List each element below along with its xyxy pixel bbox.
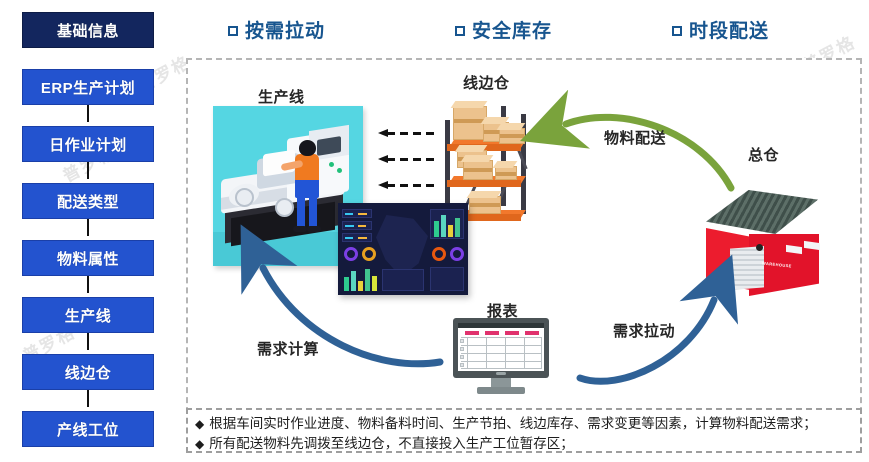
table-gridline — [461, 337, 541, 338]
note-box: ◆根据车间实时作业进度、物料备料时间、生产节拍、线边库存、需求变更等因素，计算物… — [186, 408, 862, 453]
flow-connector — [87, 332, 89, 350]
sidebar-item-daily-plan[interactable]: 日作业计划 — [22, 126, 154, 162]
label-demand-pull: 需求拉动 — [613, 320, 675, 341]
dashboard-tick — [358, 225, 366, 227]
sidebar-item-line-side-warehouse[interactable]: 线边仓 — [22, 354, 154, 390]
rack-shelf-edge — [447, 180, 521, 187]
dashed-arrow-left — [378, 129, 442, 137]
label-main-warehouse: 总仓 — [748, 144, 779, 165]
dashboard-bar — [344, 277, 349, 291]
header-label: 按需拉动 — [245, 21, 325, 42]
table-gridline — [524, 337, 525, 369]
carton-tape — [496, 172, 516, 176]
carton-box — [499, 128, 525, 144]
dashboard-tick — [345, 237, 353, 239]
carton-top — [467, 191, 502, 198]
row-marker — [460, 355, 464, 359]
sidebar-item-delivery-type[interactable]: 配送类型 — [22, 183, 154, 219]
dashboard-bar — [434, 221, 439, 237]
row-marker — [460, 339, 464, 343]
arrow-shaft — [387, 132, 439, 135]
table-header-cell — [505, 331, 519, 335]
monitor-power-led — [496, 372, 506, 375]
dashboard-bar — [448, 225, 453, 237]
carton-tape — [500, 134, 524, 138]
table-gridline — [461, 361, 541, 362]
arrow-shaft — [387, 158, 439, 161]
diamond-bullet-icon: ◆ — [195, 414, 204, 434]
table-gridline — [505, 337, 506, 369]
label-demand-calculation: 需求计算 — [257, 338, 319, 359]
dashboard-tick — [358, 237, 367, 239]
machine-wheel — [235, 188, 254, 207]
slide-canvas: 普罗格 普罗格 普罗格 普罗格 普罗格 普罗格 普罗格 普罗格 普罗格 普罗格 … — [0, 0, 869, 462]
arrow-shaft — [387, 184, 439, 187]
worker-shoe — [307, 226, 321, 232]
square-bullet-icon — [228, 26, 238, 36]
label-material-delivery: 物料配送 — [604, 127, 666, 148]
worker-shoe — [293, 226, 307, 232]
warehouse-illustration: WAREHOUSE — [700, 190, 828, 300]
carton-tape — [470, 203, 500, 207]
worker-leg — [309, 194, 317, 228]
row-marker — [460, 347, 464, 351]
note-line: ◆所有配送物料先调拨至线边仓，不直接投入生产工位暂存区； — [195, 434, 853, 454]
row-marker — [460, 363, 464, 367]
header-safety-stock: 安全库存 — [455, 16, 552, 43]
table-gridline — [486, 337, 487, 369]
table-gridline — [461, 368, 541, 369]
table-gridline — [461, 353, 541, 354]
dashed-arrow-left — [378, 155, 442, 163]
sidebar-item-workstation[interactable]: 产线工位 — [22, 411, 154, 447]
machine-wheel — [275, 198, 294, 217]
flow-connector — [87, 104, 89, 122]
note-line: ◆根据车间实时作业进度、物料备料时间、生产节拍、线边库存、需求变更等因素，计算物… — [195, 414, 853, 434]
header-demand-pull: 按需拉动 — [228, 16, 325, 43]
dashboard-donut — [432, 247, 446, 261]
indicator-light — [329, 162, 334, 167]
carton-top — [493, 161, 518, 168]
flow-connector — [87, 389, 89, 407]
dashboard-bar — [372, 276, 377, 291]
table-header-cell — [525, 331, 539, 335]
note-text: 根据车间实时作业进度、物料备料时间、生产节拍、线边库存、需求变更等因素，计算物料… — [209, 416, 817, 431]
square-bullet-icon — [455, 26, 465, 36]
report-monitor-illustration — [453, 318, 549, 398]
carton-box — [495, 166, 517, 180]
monitor-neck — [491, 378, 511, 387]
dashed-arrow-left — [378, 181, 442, 189]
dashboard-tick — [358, 213, 367, 215]
header-label: 安全库存 — [472, 21, 552, 42]
sidebar-item-material-attr[interactable]: 物料属性 — [22, 240, 154, 276]
warehouse-door — [730, 246, 764, 290]
carton-box — [463, 160, 493, 180]
dashboard-bar — [365, 269, 370, 291]
header-label: 时段配送 — [689, 21, 769, 42]
dashboard-donut — [450, 247, 464, 261]
dashboard-map — [376, 215, 428, 277]
dashboard-illustration — [338, 203, 468, 295]
flow-connector — [87, 218, 89, 236]
table-gridline — [467, 337, 468, 369]
flow-connector — [87, 161, 89, 179]
dashboard-bar — [358, 281, 363, 291]
dashboard-bar — [455, 218, 460, 237]
rack-illustration — [443, 92, 551, 220]
monitor-stand — [477, 387, 525, 394]
carton-top — [451, 101, 488, 108]
label-line-side-warehouse: 线边仓 — [463, 72, 510, 93]
table-gridline — [461, 345, 541, 346]
warehouse-roof — [706, 190, 818, 234]
dashboard-bar — [441, 215, 446, 237]
dashboard-donut — [362, 247, 376, 261]
dashboard-tick — [345, 213, 353, 215]
header-timed-delivery: 时段配送 — [672, 16, 769, 43]
carton-top — [461, 155, 494, 162]
sidebar-item-base-info[interactable]: 基础信息 — [22, 12, 154, 48]
table-header-cell — [465, 331, 479, 335]
carton-top — [455, 145, 488, 152]
warehouse-lamp-icon — [756, 244, 763, 251]
monitor-titlebar — [458, 323, 544, 328]
note-text: 所有配送物料先调拨至线边仓，不直接投入生产工位暂存区； — [209, 436, 574, 451]
sidebar-flow: 基础信息 ERP生产计划 日作业计划 配送类型 物料属性 生产线 线边仓 产线工… — [0, 0, 180, 462]
carton-top — [497, 123, 526, 130]
indicator-light — [337, 168, 342, 173]
square-bullet-icon — [672, 26, 682, 36]
dashboard-panel — [382, 269, 424, 291]
diamond-bullet-icon: ◆ — [195, 434, 204, 454]
sidebar-item-erp-plan[interactable]: ERP生产计划 — [22, 69, 154, 105]
label-production-line: 生产线 — [258, 86, 305, 107]
dashboard-bar — [351, 271, 356, 291]
carton-box — [469, 196, 501, 214]
worker-leg — [297, 194, 305, 228]
flow-connector — [87, 275, 89, 293]
carton-tape — [464, 168, 492, 172]
dashboard-panel — [430, 267, 464, 291]
worker-head — [299, 140, 316, 156]
dashboard-tick — [345, 225, 354, 227]
sidebar-item-production-line[interactable]: 生产线 — [22, 297, 154, 333]
dashboard-donut — [344, 247, 358, 261]
table-gridline — [541, 337, 542, 369]
table-header-cell — [485, 331, 499, 335]
